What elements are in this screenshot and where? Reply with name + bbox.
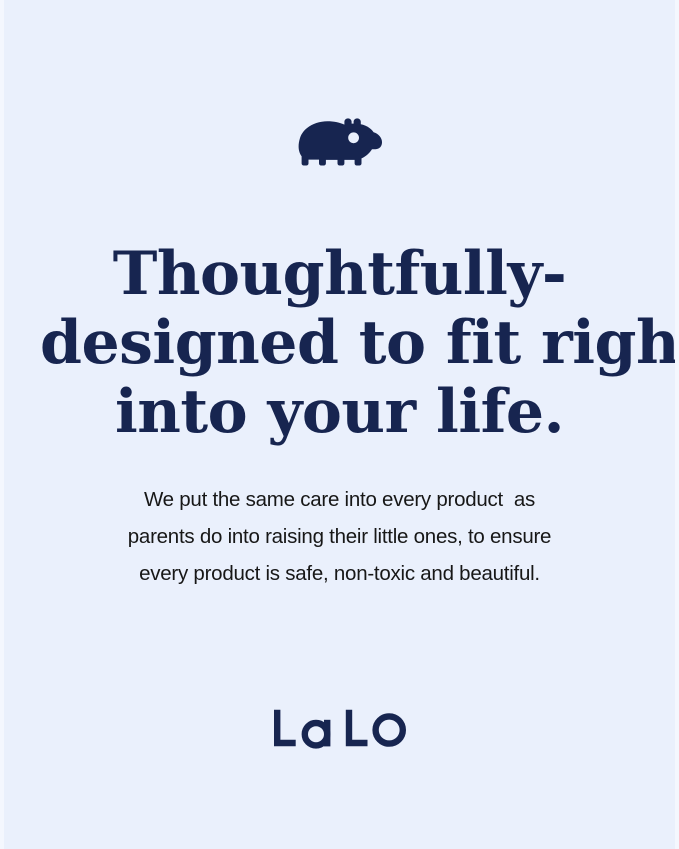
body-line: parents do into raising their little one… (48, 518, 631, 555)
lalo-wordmark-icon (0, 705, 679, 751)
headline-line: Thoughtfully- (40, 240, 639, 309)
promo-card: Thoughtfully- designed to fit right into… (0, 0, 679, 849)
page-title: Thoughtfully- designed to fit right into… (0, 240, 679, 447)
body-paragraph: We put the same care into every product … (0, 481, 679, 592)
headline-line: into your life. (40, 378, 639, 447)
headline-line: designed to fit right (40, 309, 639, 378)
hippo-icon (297, 118, 383, 168)
body-line: We put the same care into every product … (48, 481, 631, 518)
body-line: every product is safe, non-toxic and bea… (48, 555, 631, 592)
